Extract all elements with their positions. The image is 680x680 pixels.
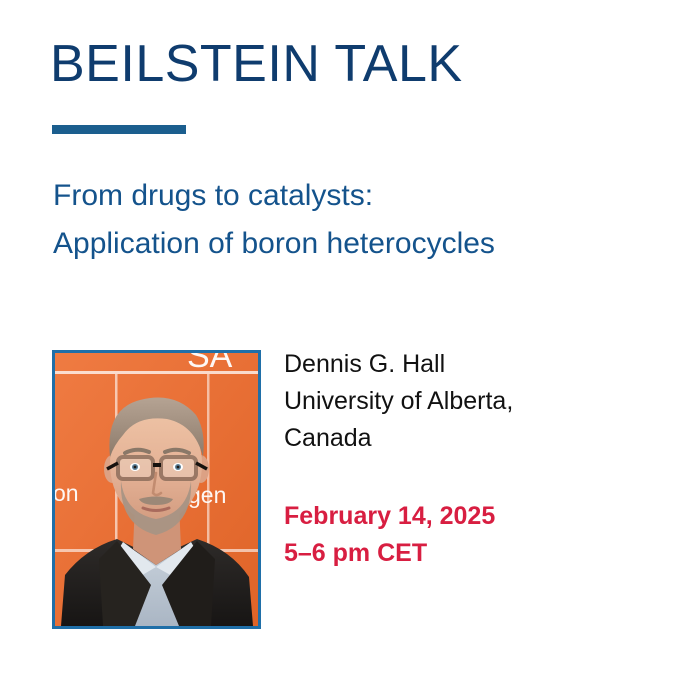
beilstein-talk-poster: BEILSTEIN TALK From drugs to catalysts: …	[0, 0, 680, 680]
talk-subtitle-line-2: Application of boron heterocycles	[53, 220, 495, 268]
event-datetime: February 14, 2025 5–6 pm CET	[284, 498, 495, 572]
speaker-info: Dennis G. Hall University of Alberta, Ca…	[284, 346, 513, 457]
event-time: 5–6 pm CET	[284, 535, 495, 572]
speaker-photo: SA on gen	[52, 350, 261, 629]
svg-text:SA: SA	[187, 353, 233, 375]
speaker-portrait-image: SA on gen	[55, 353, 258, 626]
event-date: February 14, 2025	[284, 498, 495, 535]
svg-text:on: on	[55, 480, 79, 506]
speaker-name: Dennis G. Hall	[284, 346, 513, 383]
page-title: BEILSTEIN TALK	[50, 36, 463, 92]
speaker-affiliation-line-1: University of Alberta,	[284, 383, 513, 420]
talk-subtitle: From drugs to catalysts: Application of …	[53, 172, 495, 268]
title-accent-rule	[52, 125, 186, 134]
talk-subtitle-line-1: From drugs to catalysts:	[53, 172, 495, 220]
speaker-affiliation-line-2: Canada	[284, 420, 513, 457]
